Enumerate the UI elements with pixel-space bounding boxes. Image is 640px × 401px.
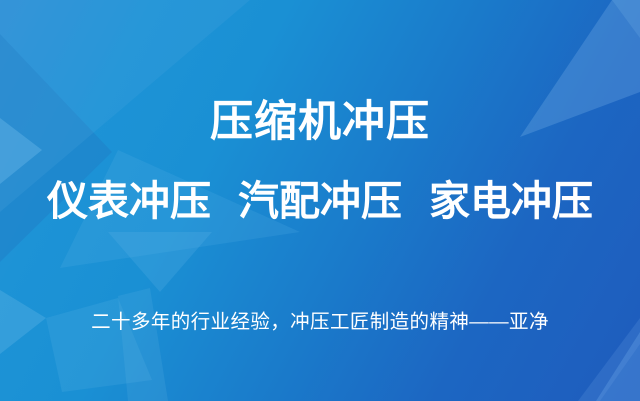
banner-text-block: 压缩机冲压 仪表冲压汽配冲压家电冲压 二十多年的行业经验，冲压工匠制造的精神——… [0, 0, 640, 401]
banner-headline: 压缩机冲压 [0, 99, 640, 146]
category-item-home-appliance: 家电冲压 [429, 178, 593, 225]
banner-tagline: 二十多年的行业经验，冲压工匠制造的精神——亚净 [0, 305, 640, 334]
category-item-instrument: 仪表冲压 [47, 178, 211, 225]
promo-banner: 压缩机冲压 仪表冲压汽配冲压家电冲压 二十多年的行业经验，冲压工匠制造的精神——… [0, 0, 640, 401]
category-item-auto-parts: 汽配冲压 [238, 178, 402, 225]
banner-category-line: 仪表冲压汽配冲压家电冲压 [0, 178, 640, 225]
